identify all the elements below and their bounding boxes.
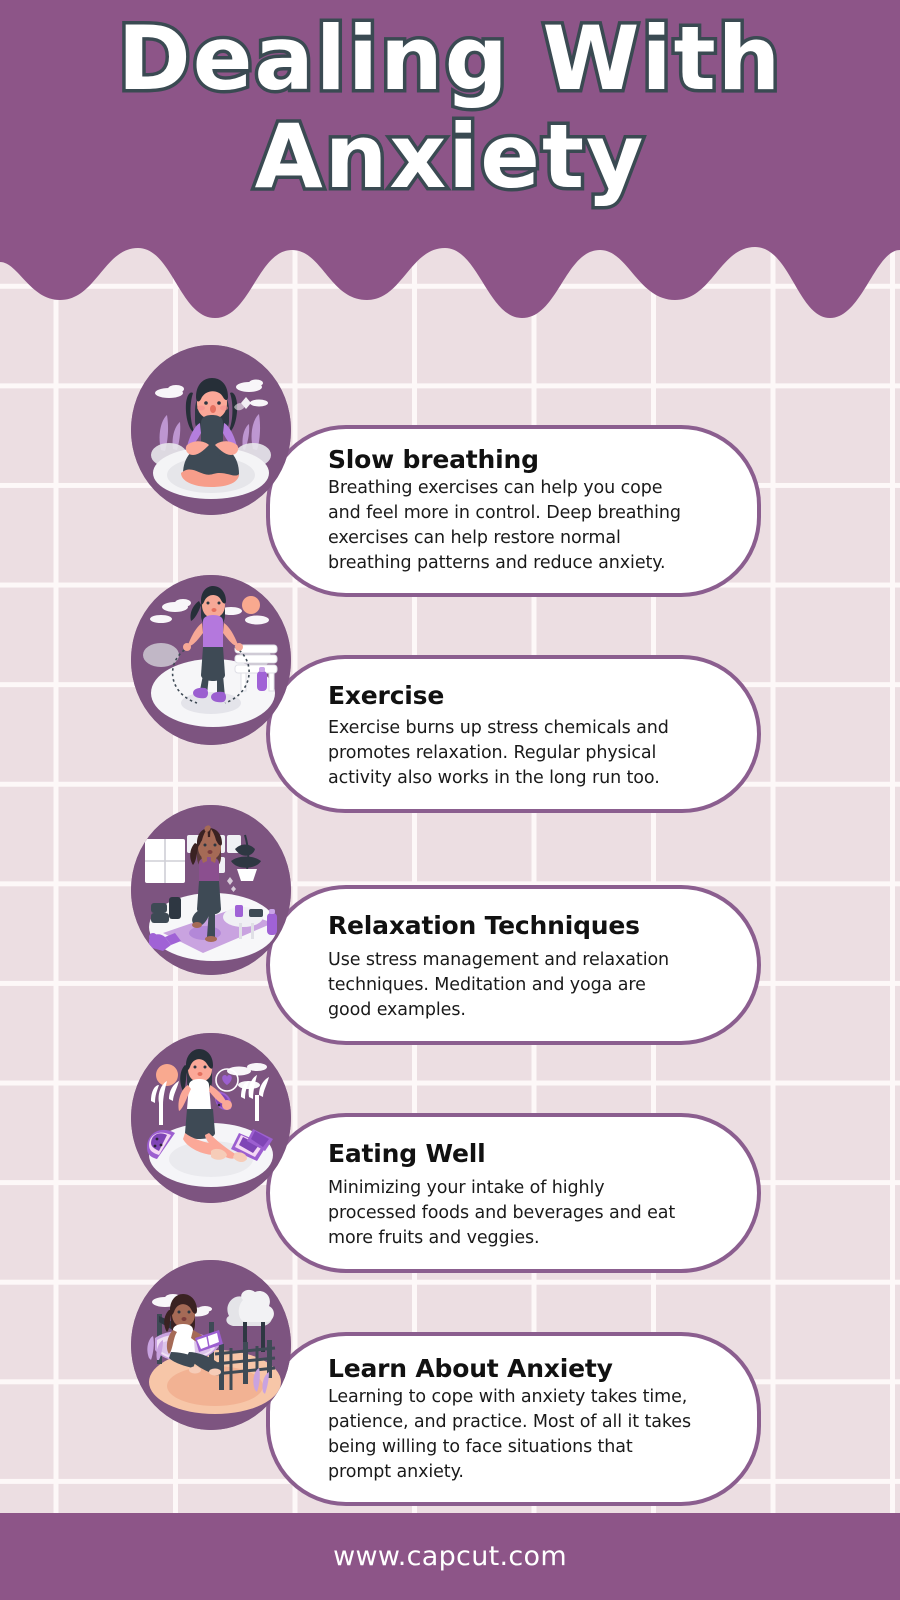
tip-body: Breathing exercises can help you cope an… xyxy=(328,476,723,575)
tip-title: Relaxation Techniques xyxy=(328,911,723,940)
tip-title: Slow breathing xyxy=(328,445,723,474)
yoga-tree-pose-woman-illustration xyxy=(131,805,291,975)
tip-body: Minimizing your intake of highly process… xyxy=(328,1176,723,1251)
tips-list: Slow breathing Breathing exercises can h… xyxy=(0,0,900,1600)
tip-card[interactable]: Slow breathing Breathing exercises can h… xyxy=(266,425,761,597)
tip-card[interactable]: Eating Well Minimizing your intake of hi… xyxy=(266,1113,761,1273)
tip-card[interactable]: Learn About Anxiety Learning to cope wit… xyxy=(266,1332,761,1506)
footer-url[interactable]: www.capcut.com xyxy=(333,1541,567,1572)
jumping-rope-woman-illustration xyxy=(131,575,291,745)
woman-eating-watermelon-illustration xyxy=(131,1033,291,1203)
tip-body: Learning to cope with anxiety takes time… xyxy=(328,1385,723,1484)
tip-body: Exercise burns up stress chemicals and p… xyxy=(328,716,723,791)
tip-body: Use stress management and relaxation tec… xyxy=(328,948,723,1023)
footer-bar: www.capcut.com xyxy=(0,1513,900,1600)
tip-title: Eating Well xyxy=(328,1139,723,1168)
tip-title: Learn About Anxiety xyxy=(328,1354,723,1383)
tip-title: Exercise xyxy=(328,681,723,710)
meditating-woman-illustration xyxy=(131,345,291,515)
woman-reading-in-hammock-illustration xyxy=(131,1260,291,1430)
tip-card[interactable]: Relaxation Techniques Use stress managem… xyxy=(266,885,761,1045)
tip-card[interactable]: Exercise Exercise burns up stress chemic… xyxy=(266,655,761,813)
